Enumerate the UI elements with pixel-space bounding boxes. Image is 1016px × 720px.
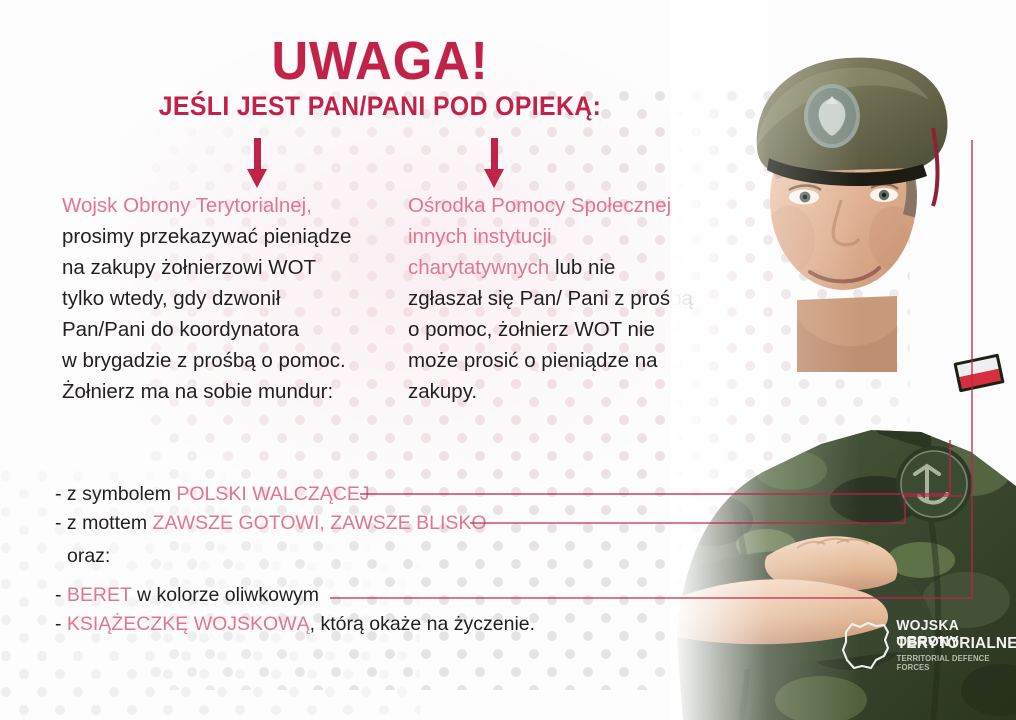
- poland-map-outline-icon: [838, 616, 894, 678]
- logo-line-3: TERRITORIAL DEFENCE FORCES: [897, 654, 1005, 672]
- arrow-down-icon-left: [247, 138, 267, 188]
- bullet-text-after: w kolorze oliwkowym: [132, 584, 319, 606]
- list-item: - BERET w kolorze oliwkowym: [55, 581, 575, 610]
- text-column-left: Wojsk Obrony Terytorialnej, prosimy prze…: [62, 190, 374, 407]
- bullet-highlight: BERET: [67, 584, 132, 606]
- bullet-highlight: ZAWSZE GOTOWI, ZAWSZE BLISKO: [153, 512, 487, 534]
- list-item: - z symbolem POLSKI WALCZĄCEJ: [55, 480, 575, 509]
- bullet-text-before: z symbolem: [62, 483, 177, 505]
- right-highlight-line-3: charytatywnych: [408, 256, 549, 279]
- left-body-line-2: na zakupy żołnierzowi WOT: [62, 252, 374, 283]
- headline-block: UWAGA! JEŚLI JEST PAN/PANI POD OPIEKĄ:: [0, 34, 760, 122]
- left-body-line-5: w brygadzie z prośbą o pomoc.: [62, 345, 374, 376]
- list-item: - KSIĄŻECZKĘ WOJSKOWĄ, którą okaże na ży…: [55, 610, 575, 639]
- list-item-oraz: oraz:: [67, 542, 575, 571]
- arrow-shaft: [491, 138, 498, 172]
- soldier-illustration: [671, 0, 1016, 720]
- right-body-after-highlight: lub nie: [549, 256, 615, 279]
- left-body-line-1: prosimy przekazywać pieniądze: [62, 221, 374, 252]
- headline-subheadline: JEŚLI JEST PAN/PANI POD OPIEKĄ:: [30, 92, 729, 122]
- arrow-head: [247, 169, 267, 188]
- bullet-text-before: z mottem: [62, 512, 153, 534]
- photo-edge-fade: [671, 0, 1016, 720]
- headline-uwaga: UWAGA!: [23, 34, 737, 88]
- left-body-line-6: Żołnierz ma na sobie mundur:: [62, 376, 374, 407]
- arrow-down-icon-right: [484, 138, 504, 188]
- bullet-highlight: KSIĄŻECZKĘ WOJSKOWĄ: [67, 613, 310, 635]
- uniform-feature-list: - z symbolem POLSKI WALCZĄCEJ - z mottem…: [55, 480, 575, 639]
- bullet-dash: -: [55, 584, 62, 606]
- left-body-line-3: tylko wtedy, gdy dzwonił: [62, 283, 374, 314]
- wot-logo: WOJSKA OBRONY TERYTORIALNEJ TERRITORIAL …: [838, 614, 1006, 680]
- bullet-highlight: POLSKI WALCZĄCEJ: [176, 483, 369, 505]
- logo-line-2: TERYTORIALNEJ: [897, 635, 1016, 653]
- bullet-dash: -: [55, 613, 62, 635]
- left-body-line-4: Pan/Pani do koordynatora: [62, 314, 374, 345]
- left-highlight-line: Wojsk Obrony Terytorialnej,: [62, 190, 374, 221]
- list-item: - z mottem ZAWSZE GOTOWI, ZAWSZE BLISKO: [55, 509, 575, 538]
- soldier-photo: [671, 0, 1016, 720]
- poster-canvas: UWAGA! JEŚLI JEST PAN/PANI POD OPIEKĄ: W…: [0, 0, 1016, 720]
- photo-body: [671, 0, 1016, 720]
- arrow-shaft: [254, 138, 261, 172]
- arrow-head: [484, 169, 504, 188]
- bullet-text-after: , którą okaże na życzenie.: [310, 613, 535, 635]
